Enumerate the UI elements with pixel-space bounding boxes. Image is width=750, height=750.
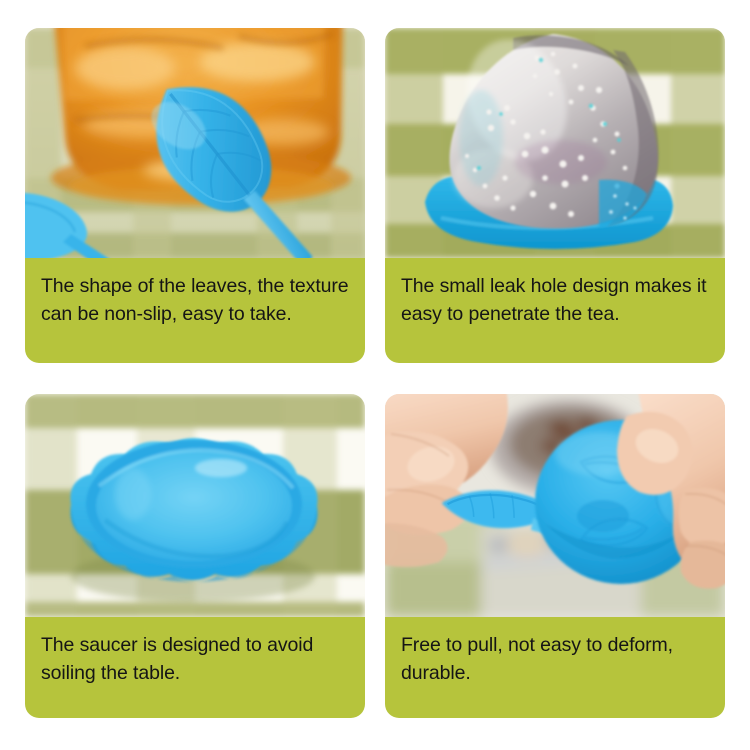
feature-panel-pull-durable: Free to pull, not easy to deform, durabl… xyxy=(385,394,725,718)
caption-block: Free to pull, not easy to deform, durabl… xyxy=(385,617,725,718)
caption-text: The saucer is designed to avoid soiling … xyxy=(41,631,349,687)
caption-block: The shape of the leaves, the texture can… xyxy=(25,258,365,363)
photo-stainless-steel-perforated-infuser-ball-on-blue-saucer xyxy=(385,28,725,258)
photo-hands-stretching-leaf-stem-from-blue-lid xyxy=(385,394,725,617)
feature-panel-leak-holes: The small leak hole design makes it easy… xyxy=(385,28,725,363)
caption-text: The shape of the leaves, the texture can… xyxy=(41,272,349,328)
caption-text: Free to pull, not easy to deform, durabl… xyxy=(401,631,709,687)
feature-grid: The shape of the leaves, the texture can… xyxy=(0,0,750,750)
feature-panel-leaf-shape: The shape of the leaves, the texture can… xyxy=(25,28,365,363)
photo-blue-silicone-leaf-lid-on-amber-teapot xyxy=(25,28,365,258)
caption-text: The small leak hole design makes it easy… xyxy=(401,272,709,328)
feature-panel-saucer: The saucer is designed to avoid soiling … xyxy=(25,394,365,718)
caption-block: The saucer is designed to avoid soiling … xyxy=(25,617,365,718)
photo-blue-silicone-scalloped-saucer-dish xyxy=(25,394,365,617)
caption-block: The small leak hole design makes it easy… xyxy=(385,258,725,363)
